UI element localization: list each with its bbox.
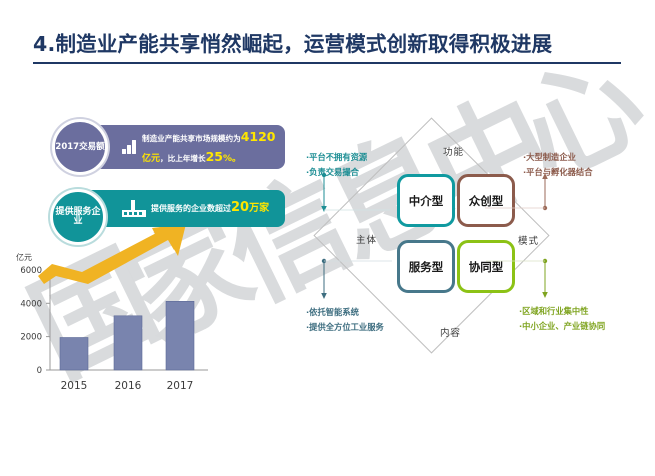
stat-mid-1: ，比上年增长 [160, 154, 206, 163]
badge-transaction: 2017交易额 [52, 119, 108, 175]
chart-xtick-2017: 2017 [167, 380, 194, 392]
chart-ytick-2000: 2000 [20, 333, 42, 343]
bar-2017 [166, 301, 194, 370]
stat-value-1: 4120 [241, 129, 276, 144]
stat-unit-1b: %。 [223, 154, 241, 164]
bar-2016 [114, 316, 142, 370]
stat-unit-2: 万家 [249, 203, 269, 214]
chart-ytick-0: 0 [37, 366, 42, 376]
stat-lead-1: 制造业产能共享市场规模约为 [142, 134, 241, 143]
chart-xtick-2016: 2016 [115, 380, 142, 392]
model-diagram: 功能 主体 模式 内容 中介型 众创型 [300, 130, 655, 380]
stat-lead-2: 提供服务的企业数超过 [151, 204, 231, 213]
badge-enterprises: 提供服务企业 [50, 189, 106, 245]
factory-icon [122, 200, 146, 217]
chart-ytick-4000: 4000 [20, 299, 42, 309]
slide-canvas: 国 家 信 息 中 心 4.制造业产能共享悄然崛起，运营模式创新取得积极进展 制… [0, 0, 655, 476]
stat-banner-transaction: 制造业产能共享市场规模约为4120亿元，比上年增长25%。 [78, 125, 285, 169]
page-title: 4.制造业产能共享悄然崛起，运营模式创新取得积极进展 [33, 27, 623, 57]
stat-banner-enterprises: 提供服务的企业数超过20万家 [78, 190, 285, 227]
bar-chart-icon [122, 140, 137, 154]
stat-value-2: 20 [231, 200, 249, 215]
title-underline [33, 62, 621, 64]
bar-2015 [60, 338, 88, 371]
stat-banner-enterprises-text: 提供服务的企业数超过20万家 [151, 198, 285, 218]
diagram-connectors [300, 130, 655, 380]
stat-unit-1: 亿元 [142, 154, 160, 164]
stat-value-1b: 25 [206, 149, 223, 164]
chart-xtick-2015: 2015 [61, 380, 88, 392]
chart-ylabel: 亿元 [16, 252, 32, 262]
stat-banner-transaction-text: 制造业产能共享市场规模约为4120亿元，比上年增长25%。 [142, 127, 285, 166]
slide-title-block: 4.制造业产能共享悄然崛起，运营模式创新取得积极进展 [33, 27, 623, 64]
